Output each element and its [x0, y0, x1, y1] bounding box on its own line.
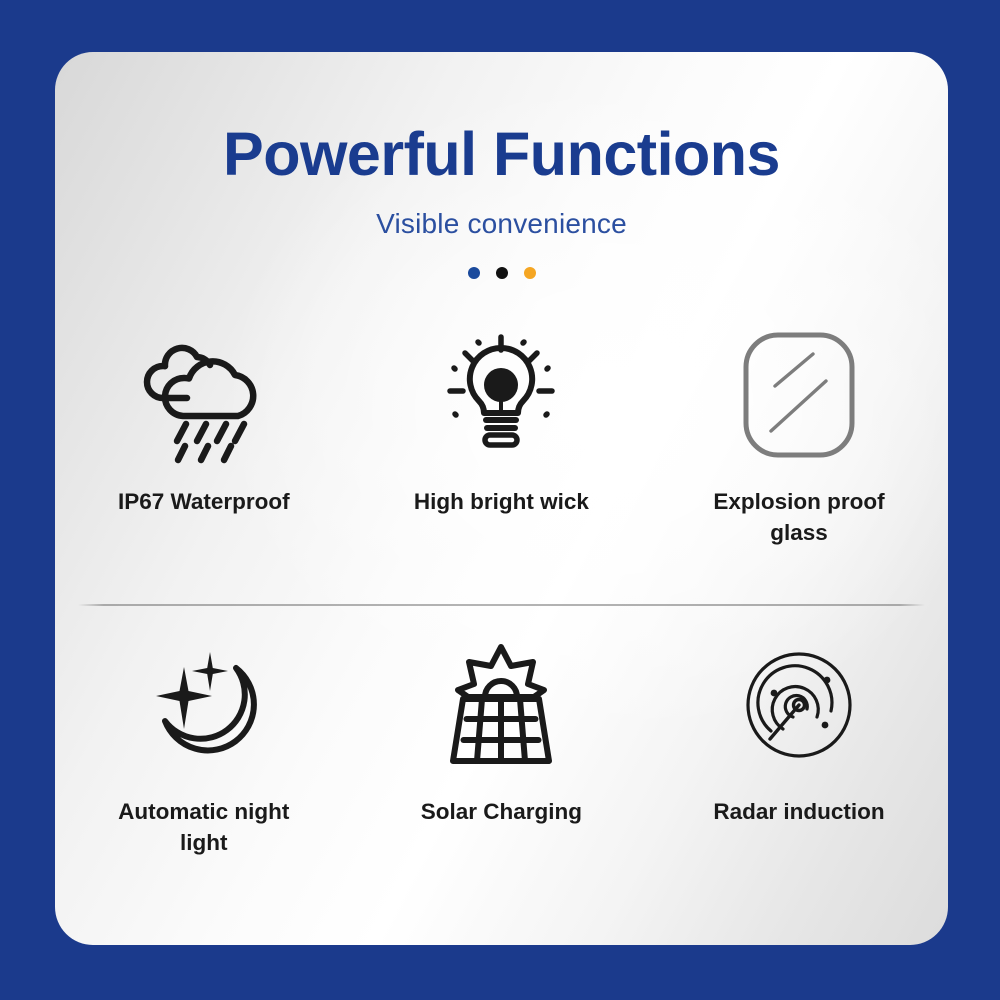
feature-item-automatic-night-light[interactable]: Automatic night light: [55, 640, 353, 858]
section-divider: [78, 604, 925, 606]
feature-label: Automatic night light: [96, 796, 311, 858]
dot-blue: [468, 267, 480, 279]
feature-item-radar-induction[interactable]: Radar induction: [650, 640, 948, 858]
feature-item-explosion-proof-glass[interactable]: Explosion proof glass: [650, 330, 948, 548]
solar-panel-sun-icon: [445, 640, 557, 770]
dot-orange: [524, 267, 536, 279]
feature-label: Solar Charging: [421, 796, 582, 827]
dot-black: [496, 267, 508, 279]
rain-cloud-icon: [141, 330, 267, 460]
feature-item-solar-charging[interactable]: Solar Charging: [353, 640, 651, 858]
page-subtitle: Visible convenience: [55, 208, 948, 240]
radar-icon: [743, 640, 855, 770]
feature-label: High bright wick: [414, 486, 589, 517]
feature-label: Radar induction: [713, 796, 884, 827]
feature-row-bottom: Automatic night light: [55, 640, 948, 858]
glass-panel-icon: [741, 330, 857, 460]
moon-stars-icon: [148, 640, 260, 770]
feature-item-bright-wick[interactable]: High bright wick: [353, 330, 651, 548]
feature-label: IP67 Waterproof: [118, 486, 290, 517]
feature-card: Powerful Functions Visible convenience: [55, 52, 948, 945]
feature-item-waterproof[interactable]: IP67 Waterproof: [55, 330, 353, 548]
feature-row-top: IP67 Waterproof: [55, 330, 948, 548]
feature-label: Explosion proof glass: [691, 486, 906, 548]
card-header: Powerful Functions Visible convenience: [55, 122, 948, 279]
light-bulb-icon: [442, 330, 560, 460]
dot-indicator: [55, 267, 948, 279]
page-title: Powerful Functions: [55, 122, 948, 186]
promo-banner: Powerful Functions Visible convenience: [0, 0, 1000, 1000]
